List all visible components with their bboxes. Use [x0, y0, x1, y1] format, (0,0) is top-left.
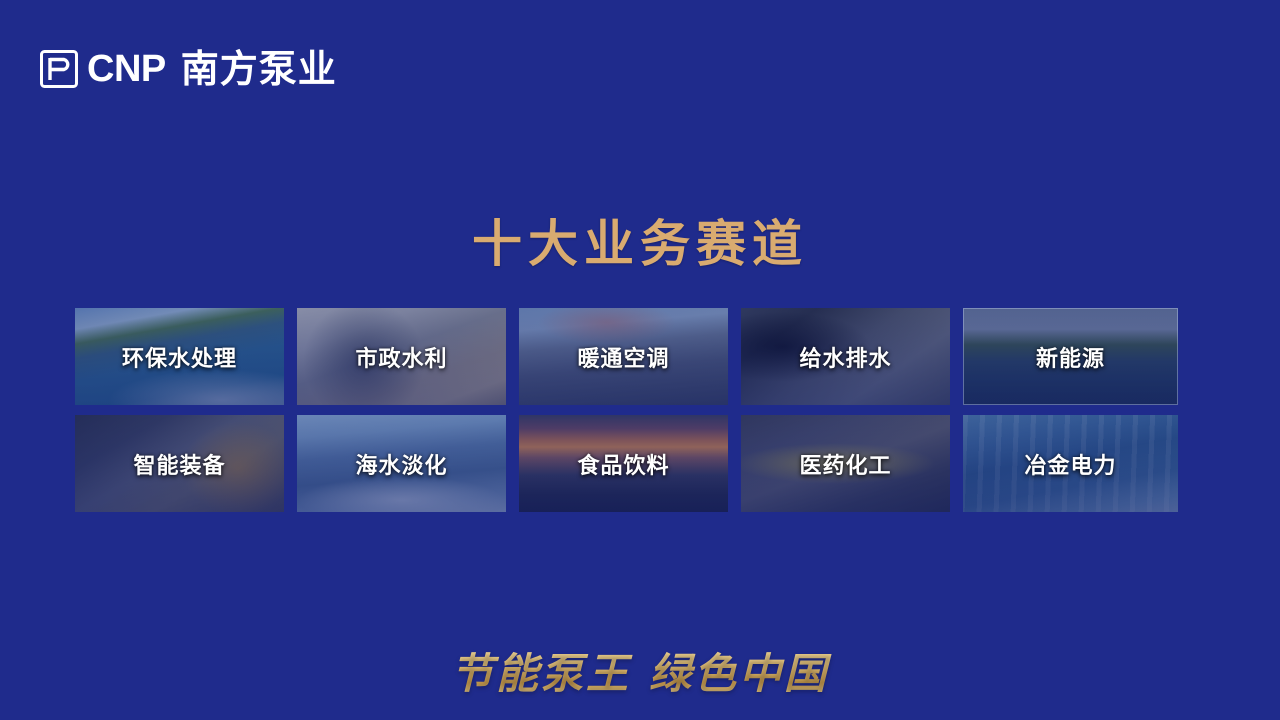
track-card-label: 给水排水: [741, 308, 950, 405]
track-card-yiyaohuagong[interactable]: 医药化工: [741, 415, 950, 512]
track-card-label: 市政水利: [297, 308, 506, 405]
track-card-shipinyinliao[interactable]: 食品饮料: [519, 415, 728, 512]
track-card-nuantongkongtiao[interactable]: 暖通空调: [519, 308, 728, 405]
track-card-label: 环保水处理: [75, 308, 284, 405]
brand-name-en: CNP: [87, 50, 166, 88]
track-card-jishuipaishui[interactable]: 给水排水: [741, 308, 950, 405]
brand-name-cn: 南方泵业: [181, 50, 337, 88]
footer-slogan-part1: 节能泵王: [451, 649, 631, 698]
track-card-label: 冶金电力: [963, 415, 1178, 512]
brand-logo: CNP 南方泵业: [40, 50, 337, 88]
track-card-label: 智能装备: [75, 415, 284, 512]
footer-slogan-part2: 绿色中国: [649, 649, 829, 698]
track-card-huanbaoshuichuli[interactable]: 环保水处理: [75, 308, 284, 405]
track-card-shizhengshuili[interactable]: 市政水利: [297, 308, 506, 405]
track-card-xinnengyuan[interactable]: 新能源: [963, 308, 1178, 405]
slide-root: CNP 南方泵业 十大业务赛道 环保水处理 市政水利 暖通空调: [0, 0, 1280, 720]
track-card-yejindianli[interactable]: 冶金电力: [963, 415, 1178, 512]
track-card-label: 暖通空调: [519, 308, 728, 405]
footer-slogan: 节能泵王绿色中国: [0, 640, 1280, 701]
track-card-label: 食品饮料: [519, 415, 728, 512]
track-card-label: 海水淡化: [297, 415, 506, 512]
track-card-label: 新能源: [963, 308, 1178, 405]
track-card-zhinengzhuangbei[interactable]: 智能装备: [75, 415, 284, 512]
business-tracks-grid: 环保水处理 市政水利 暖通空调 给水排水 新能源: [75, 308, 1185, 522]
business-tracks-row-2: 智能装备 海水淡化 食品饮料 医药化工 冶金电力: [75, 415, 1185, 512]
business-tracks-row-1: 环保水处理 市政水利 暖通空调 给水排水 新能源: [75, 308, 1185, 405]
page-title: 十大业务赛道: [0, 204, 1280, 276]
track-card-haishuidanhua[interactable]: 海水淡化: [297, 415, 506, 512]
cnp-logo-mark-icon: [40, 50, 78, 88]
track-card-label: 医药化工: [741, 415, 950, 512]
